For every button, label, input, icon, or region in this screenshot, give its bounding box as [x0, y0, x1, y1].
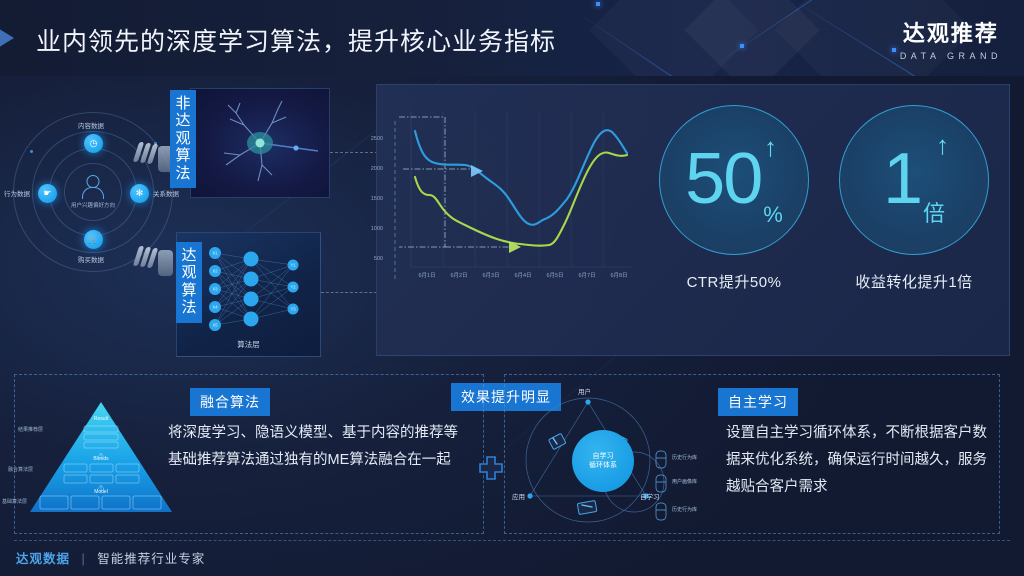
logo-chinese: 达观推荐 [900, 16, 1002, 48]
pyramid-side-label: 基础算法层 [2, 498, 27, 505]
page-title: 业内领先的深度学习算法，提升核心业务指标 [36, 22, 556, 58]
radial-label-purchase: 购买数据 [78, 254, 104, 264]
cycle-store-history-2: 历史行为库 [672, 506, 697, 513]
hand-pointer-icon-bottom [136, 246, 176, 280]
stat-ctr: 50 % ↑ CTR提升50% [649, 105, 819, 292]
footer-tagline: 智能推荐行业专家 [97, 552, 205, 566]
y-tick-label: 500 [374, 256, 383, 262]
x-tick-label: 6月4日 [514, 271, 531, 279]
header-dot [892, 48, 896, 52]
svg-text:X3: X3 [212, 287, 218, 292]
cycle-store-profile: 用户画像库 [672, 478, 697, 485]
fusion-description: 将深度学习、隐语义模型、基于内容的推荐等基础推荐算法通过独有的ME算法融合在一起 [168, 420, 468, 474]
results-panel: 2500 2000 1500 1000 500 6月1日 6月2日 6月3日 6… [376, 84, 1010, 356]
stat-circle-ctr: 50 % ↑ [659, 105, 809, 255]
y-tick-label: 2000 [371, 166, 383, 172]
svg-text:X4: X4 [212, 305, 218, 310]
user-avatar-icon [82, 175, 104, 199]
title-arrow-icon [0, 22, 14, 54]
stat-unit-revenue: 倍 [923, 196, 945, 228]
badge-char: 达 [176, 247, 202, 264]
badge-char: 算 [176, 282, 202, 299]
logo-english: DATA GRAND [900, 51, 1002, 61]
cycle-node-selflearn: 自学习 [640, 491, 660, 501]
svg-text:X5: X5 [212, 323, 218, 328]
brand-logo: 达观推荐 DATA GRAND [900, 16, 1002, 61]
cycle-node-user: 用户 [578, 386, 591, 396]
radial-center: 用户兴趣偏好方向 [71, 175, 115, 209]
node-purchase-data: 🛒 [84, 230, 103, 249]
radial-label-content: 内容数据 [78, 120, 104, 130]
badge-char: 达 [170, 112, 196, 129]
footer: 达观数据 | 智能推荐行业专家 [16, 548, 205, 567]
performance-chart: 2500 2000 1500 1000 500 6月1日 6月2日 6月3日 6… [385, 95, 635, 295]
svg-text:Y3: Y3 [290, 306, 296, 311]
stat-unit-ctr: % [763, 202, 783, 228]
radial-label-behavior: 行为数据 [4, 188, 30, 198]
stat-revenue: 1 倍 ↑ 收益转化提升1倍 [829, 105, 999, 292]
up-arrow-icon: ↑ [764, 134, 777, 160]
footer-divider [14, 540, 1010, 541]
footer-separator: | [82, 552, 86, 566]
y-tick-label: 1500 [371, 196, 383, 202]
cycle-core-label: 自学习 循环体系 [572, 430, 634, 492]
svg-text:Blends: Blends [93, 456, 109, 462]
y-tick-label: 2500 [371, 136, 383, 142]
cycle-store-history-1: 历史行为库 [672, 454, 697, 461]
badge-non-dataguan-algorithm: 非 达 观 算 法 [170, 90, 196, 188]
selflearning-tag-badge: 自主学习 [718, 388, 798, 416]
badge-char: 法 [170, 165, 196, 182]
svg-text:Model: Model [94, 489, 108, 495]
fusion-tag-badge: 融合算法 [190, 388, 270, 416]
header-dot [596, 2, 600, 6]
badge-dataguan-algorithm: 达 观 算 法 [176, 242, 202, 323]
cycle-node-app: 应用 [512, 491, 525, 501]
radial-label-relation: 关系数据 [153, 188, 179, 198]
header-bar: 业内领先的深度学习算法，提升核心业务指标 达观推荐 DATA GRAND [0, 0, 1024, 76]
x-tick-label: 6月2日 [450, 271, 467, 279]
node-relation-data: ✻ [130, 184, 149, 203]
x-tick-label: 6月7日 [578, 271, 595, 279]
svg-text:X1: X1 [212, 251, 218, 256]
footer-brand: 达观数据 [16, 552, 70, 566]
stat-number-revenue: 1 [883, 148, 921, 211]
y-tick-label: 1000 [371, 226, 383, 232]
stat-number-ctr: 50 [685, 148, 761, 211]
neuron-image-card [190, 88, 330, 198]
svg-text:X2: X2 [212, 269, 218, 274]
badge-char: 算 [170, 147, 196, 164]
badge-char: 非 [170, 95, 196, 112]
algorithm-pyramid-diagram: ResultBlendsModel 结果推荐层 融合算法层 基础算法层 [26, 398, 176, 516]
badge-char: 法 [176, 299, 202, 316]
neural-network-diagram: X1X2X3 X4X5 Y1Y2Y3 [189, 239, 317, 339]
nn-caption: 算法层 [177, 339, 320, 350]
stat-caption-revenue: 收益转化提升1倍 [829, 271, 999, 292]
node-content-data: ◷ [84, 134, 103, 153]
plus-connector-icon [478, 455, 504, 481]
pyramid-side-label: 结果推荐层 [18, 426, 43, 433]
x-tick-label: 6月8日 [610, 271, 627, 279]
stat-caption-ctr: CTR提升50% [649, 271, 819, 292]
badge-char: 观 [170, 130, 196, 147]
connector-dash-bottom [321, 292, 377, 293]
x-tick-label: 6月1日 [418, 271, 435, 279]
self-learning-cycle-diagram: 自学习 循环体系 用户 应用 自学习 历史行为库 用户画像库 历史行为库 [516, 386, 696, 534]
x-tick-label: 6月3日 [482, 271, 499, 279]
svg-text:Result: Result [94, 416, 109, 422]
stat-circle-revenue: 1 倍 ↑ [839, 105, 989, 255]
selflearning-description: 设置自主学习循环体系，不断根据客户数据来优化系统，确保运行时间越久，服务越贴合客… [726, 420, 996, 500]
header-dot [740, 44, 744, 48]
cycle-core-text: 自学习 循环体系 [589, 452, 617, 471]
chart-svg [385, 95, 635, 295]
svg-text:Y1: Y1 [290, 262, 296, 267]
radial-center-label: 用户兴趣偏好方向 [71, 201, 115, 209]
pyramid-side-label: 融合算法层 [8, 466, 33, 473]
svg-text:Y2: Y2 [290, 284, 296, 289]
x-tick-label: 6月5日 [546, 271, 563, 279]
node-behavior-data: ☛ [38, 184, 57, 203]
connector-dash-top [330, 152, 378, 153]
pyramid-svg: ResultBlendsModel [26, 398, 176, 516]
neuron-illustration [200, 95, 320, 191]
up-arrow-icon: ↑ [936, 132, 949, 158]
badge-char: 观 [176, 264, 202, 281]
